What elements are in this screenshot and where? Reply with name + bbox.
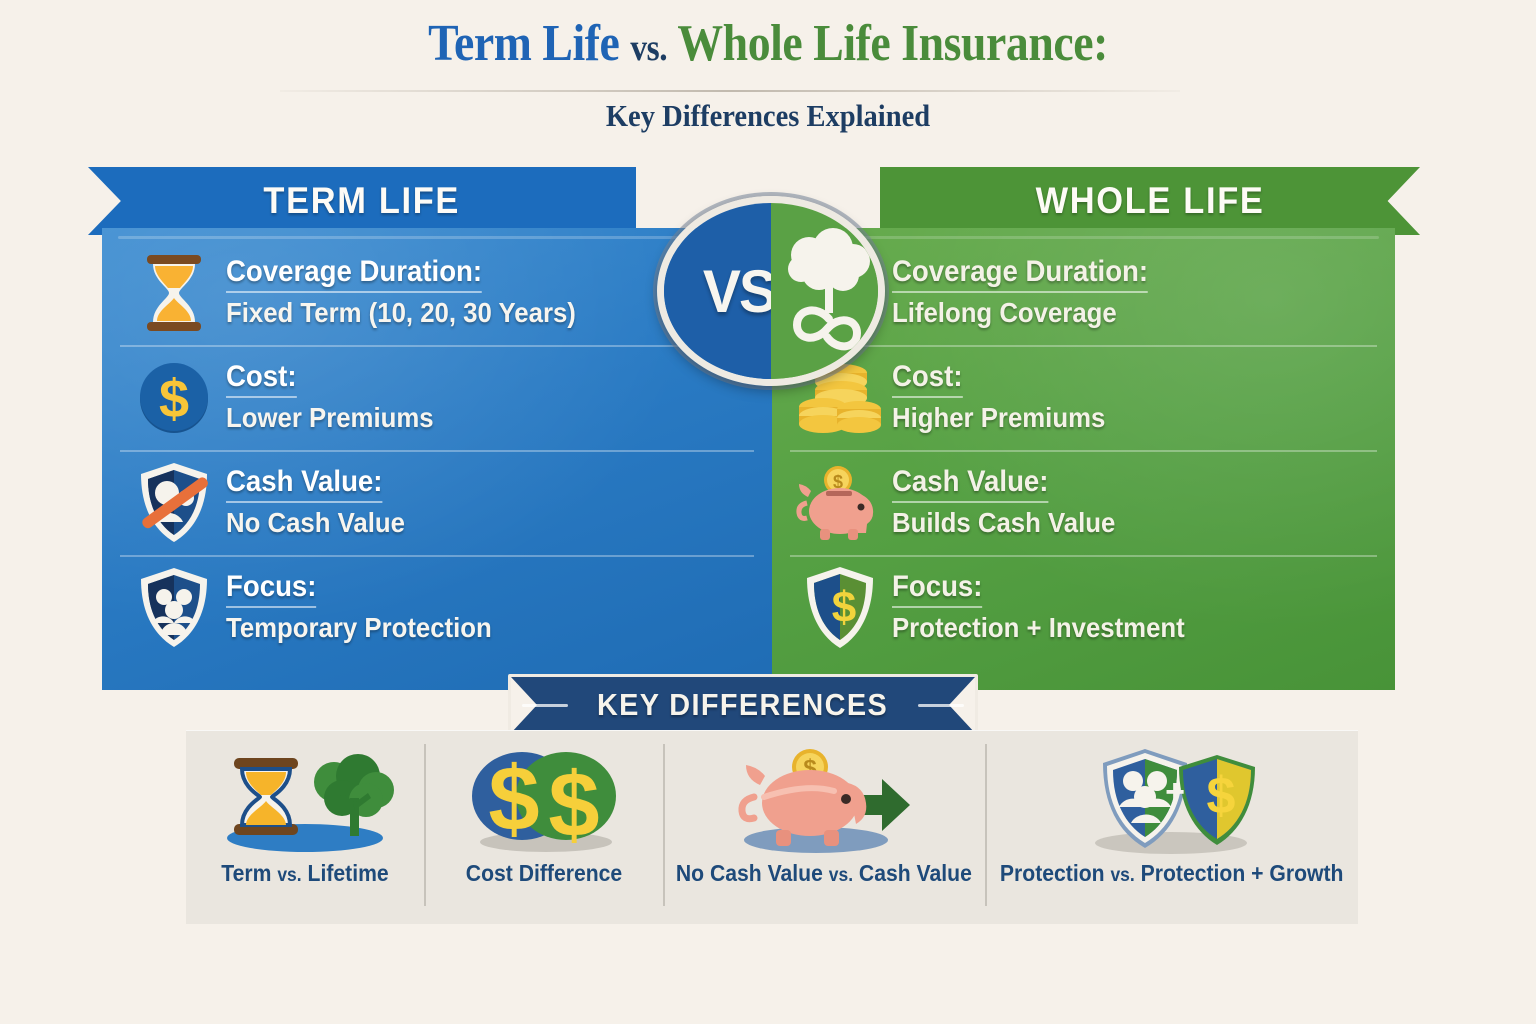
key-diff-item-term-vs-lifetime: Term vs. Lifetime	[186, 730, 424, 924]
key-differences-label: KEY DIFFERENCES	[597, 687, 888, 723]
tree-infinity-icon	[773, 221, 877, 361]
vs-badge-right-half	[771, 203, 878, 379]
whole-row-cash-value: $ Cash Value: Builds Cash Value	[772, 450, 1395, 555]
infographic-canvas: Term Life vs. Whole Life Insurance: Key …	[0, 0, 1536, 1024]
whole-life-banner-label: WHOLE LIFE	[1036, 180, 1265, 222]
svg-text:$: $	[488, 748, 539, 850]
row-value: Higher Premiums	[892, 403, 1105, 434]
term-row-focus: Focus: Temporary Protection	[102, 555, 772, 660]
banner-dash-left	[522, 704, 568, 707]
row-value: Fixed Term (10, 20, 30 Years)	[226, 298, 576, 329]
shield-dollar-icon: $	[794, 562, 886, 654]
shield-people-icon	[128, 562, 220, 654]
key-differences-strip: Term vs. Lifetime $ $ Cost Difference	[186, 730, 1358, 924]
page-title: Term Life vs. Whole Life Insurance:	[0, 14, 1536, 73]
hourglass-icon	[128, 247, 220, 339]
pink-piggy-bank-icon: $	[794, 457, 886, 549]
key-diff-label: Cost Difference	[465, 860, 621, 887]
row-label: Focus:	[892, 571, 982, 607]
key-differences-banner: KEY DIFFERENCES	[508, 674, 978, 736]
row-value: No Cash Value	[226, 508, 405, 539]
page-subtitle: Key Differences Explained	[61, 98, 1474, 134]
svg-text:$: $	[548, 754, 599, 856]
svg-text:$: $	[1207, 767, 1236, 825]
row-label: Coverage Duration:	[226, 256, 482, 292]
row-label: Coverage Duration:	[892, 256, 1148, 292]
row-value: Lower Premiums	[226, 403, 434, 434]
key-diff-label: Protection vs. Protection + Growth	[1000, 860, 1344, 887]
title-term-life: Term Life	[428, 15, 619, 72]
dollar-coin-icon: $	[128, 352, 220, 444]
svg-text:$: $	[832, 583, 856, 632]
svg-text:+: +	[1165, 773, 1185, 811]
double-dollar-icon: $ $	[454, 744, 634, 856]
key-diff-item-cost-difference: $ $ Cost Difference	[424, 730, 662, 924]
term-row-cash-value: Cash Value: No Cash Value	[102, 450, 772, 555]
vs-label: VS	[703, 257, 775, 326]
vs-badge: VS	[657, 196, 885, 386]
row-label: Cash Value:	[226, 466, 382, 502]
term-row-cost: $ Cost: Lower Premiums	[102, 345, 772, 450]
piggy-arrow-icon: $	[724, 744, 924, 856]
row-value: Protection + Investment	[892, 613, 1185, 644]
row-value: Temporary Protection	[226, 613, 492, 644]
hourglass-tree-icon	[216, 744, 394, 856]
key-diff-item-cash-value: $ No Cash Value vs. Cash Value	[663, 730, 985, 924]
row-value: Builds Cash Value	[892, 508, 1115, 539]
shield-people-crossed-icon	[128, 457, 220, 549]
row-label: Cost:	[226, 361, 297, 397]
key-diff-item-protection-growth: $ + Protection vs. Protection + Growth	[985, 730, 1358, 924]
svg-text:$: $	[159, 369, 189, 429]
whole-life-banner: WHOLE LIFE	[880, 167, 1420, 235]
row-label: Cash Value:	[892, 466, 1048, 502]
two-shields-icon: $ +	[1071, 744, 1271, 856]
banner-dash-right	[918, 704, 964, 707]
key-diff-label: No Cash Value vs. Cash Value	[676, 860, 972, 887]
term-life-banner-label: TERM LIFE	[264, 180, 461, 222]
title-divider	[280, 90, 1180, 92]
title-vs: vs.	[630, 27, 667, 69]
key-diff-label: Term vs. Lifetime	[222, 860, 389, 887]
row-label: Focus:	[226, 571, 316, 607]
row-value: Lifelong Coverage	[892, 298, 1148, 329]
whole-row-focus: $ Focus: Protection + Investment	[772, 555, 1395, 660]
row-label: Cost:	[892, 361, 963, 397]
term-life-banner: TERM LIFE	[88, 167, 636, 235]
title-whole-life: Whole Life Insurance:	[677, 15, 1108, 72]
